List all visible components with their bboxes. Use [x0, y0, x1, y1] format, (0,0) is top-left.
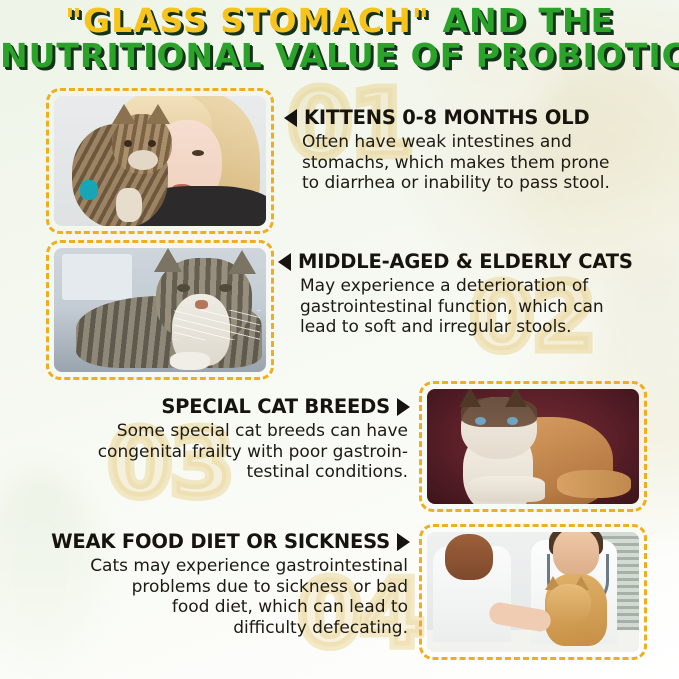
- photo-frame-2: [46, 240, 274, 380]
- cat-eye-shape: [475, 417, 486, 425]
- kitten-ear-shape: [112, 104, 136, 124]
- kitten-muzzle-shape: [128, 150, 158, 170]
- cat-ear-shape: [505, 389, 527, 407]
- kitten-paw-shape: [116, 188, 142, 222]
- cat-ear-shape: [459, 389, 481, 407]
- photo-elderly-tabby-cat: [54, 248, 266, 372]
- body-line: difficulty defecating.: [42, 618, 408, 639]
- cat-ear-shape: [154, 248, 182, 272]
- assistant-head-shape: [445, 534, 493, 580]
- photo-vet-examining-cat: [427, 532, 639, 652]
- eye-shape: [192, 150, 204, 156]
- section-3-heading: SPECIAL CAT BREEDS: [161, 395, 390, 418]
- triangle-left-icon: [278, 253, 291, 271]
- body-line: lead to soft and irregular stools.: [300, 317, 633, 338]
- section-3-body: Some special cat breeds can have congeni…: [42, 421, 410, 483]
- body-line: gastrointestinal function, which can: [300, 297, 633, 318]
- body-line: to diarrhea or inability to pass stool.: [302, 173, 610, 194]
- cat-whiskers-shape: [174, 310, 260, 340]
- title-line-1: "GLASS STOMACH" AND THE: [0, 4, 679, 38]
- kitten-eye-shape: [148, 140, 156, 147]
- cat-head-shape: [547, 584, 591, 624]
- photo-woman-with-kitten: [54, 96, 266, 226]
- section-4-heading: WEAK FOOD DIET OR SICKNESS: [51, 530, 390, 553]
- cat-legs-shape: [469, 476, 545, 502]
- triangle-right-icon: [397, 533, 410, 551]
- cat-eye-shape: [219, 284, 232, 292]
- section-1-heading: KITTENS 0-8 MONTHS OLD: [304, 106, 589, 129]
- body-line: Often have weak intestines and: [302, 132, 610, 153]
- section-2-body: May experience a deterioration of gastro…: [278, 276, 633, 338]
- section-3-text: SPECIAL CAT BREEDS Some special cat bree…: [42, 395, 410, 483]
- body-line: May experience a deterioration of: [300, 276, 633, 297]
- title-line-1-suffix: AND THE: [430, 1, 614, 40]
- section-4-heading-row: WEAK FOOD DIET OR SICKNESS: [42, 530, 410, 553]
- cat-tail-shape: [557, 470, 631, 498]
- section-2-text: MIDDLE-AGED & ELDERLY CATS May experienc…: [278, 250, 633, 338]
- section-1-text: KITTENS 0-8 MONTHS OLD Often have weak i…: [284, 106, 610, 194]
- cat-paw-shape: [170, 352, 210, 370]
- cat-nose-shape: [195, 300, 208, 309]
- kitten-ear-shape: [146, 104, 170, 124]
- title-line-2: NUTRITIONAL VALUE OF PROBIOTICS: [0, 39, 679, 73]
- cat-eye-shape: [507, 417, 518, 425]
- triangle-left-icon: [284, 109, 297, 127]
- body-line: testinal conditions.: [42, 462, 408, 483]
- section-4-body: Cats may experience gastrointestinal pro…: [42, 556, 410, 639]
- window-shape: [62, 254, 132, 300]
- triangle-right-icon: [397, 398, 410, 416]
- cat-ear-shape: [228, 250, 256, 274]
- fingernail-shape: [80, 180, 98, 200]
- photo-frame-3: [419, 381, 647, 512]
- section-3-heading-row: SPECIAL CAT BREEDS: [42, 395, 410, 418]
- section-2-heading: MIDDLE-AGED & ELDERLY CATS: [298, 250, 633, 273]
- cat-eye-shape: [177, 284, 190, 292]
- body-line: Cats may experience gastrointestinal: [42, 556, 408, 577]
- photo-ragdoll-cat: [427, 389, 639, 504]
- title-highlight-glass-stomach: "GLASS STOMACH": [65, 1, 430, 40]
- section-2-heading-row: MIDDLE-AGED & ELDERLY CATS: [278, 250, 633, 273]
- section-1-heading-row: KITTENS 0-8 MONTHS OLD: [284, 106, 610, 129]
- body-line: Some special cat breeds can have: [42, 421, 408, 442]
- poster-title: "GLASS STOMACH" AND THE NUTRITIONAL VALU…: [0, 4, 679, 72]
- section-4-text: WEAK FOOD DIET OR SICKNESS Cats may expe…: [42, 530, 410, 639]
- photo-frame-4: [419, 524, 647, 660]
- body-line: stomachs, which makes them prone: [302, 153, 610, 174]
- body-line: food diet, which can lead to: [42, 597, 408, 618]
- body-line: problems due to sickness or bad: [42, 577, 408, 598]
- section-1-body: Often have weak intestines and stomachs,…: [284, 132, 610, 194]
- infographic-poster: "GLASS STOMACH" AND THE NUTRITIONAL VALU…: [0, 0, 679, 679]
- photo-frame-1: [46, 88, 274, 234]
- body-line: congenital frailty with poor gastroin-: [42, 442, 408, 463]
- kitten-eye-shape: [124, 140, 132, 147]
